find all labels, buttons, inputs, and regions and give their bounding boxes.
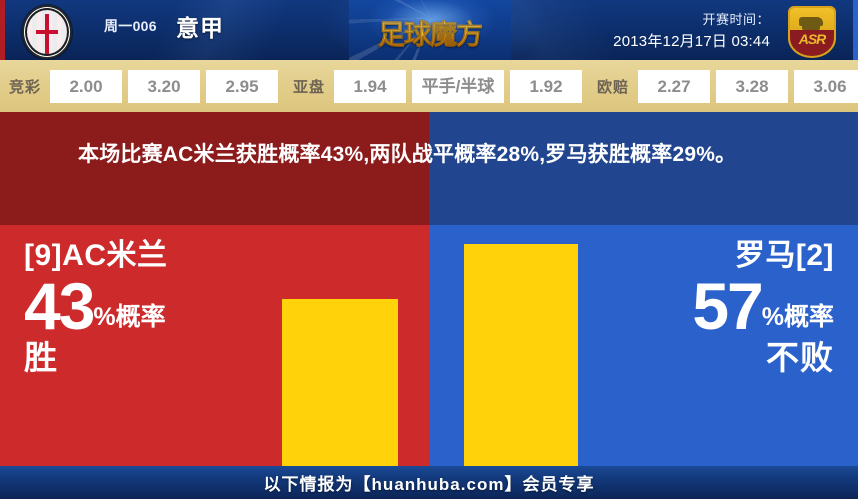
home-probability-bar	[282, 299, 398, 466]
home-team-name: [9]AC米兰	[24, 239, 258, 273]
home-team-block: [9]AC米兰 43 %概率 胜	[0, 239, 258, 377]
away-verdict: 不败	[600, 339, 834, 377]
odds-label-jingcai: 竞彩	[0, 76, 50, 97]
kickoff-label: 开赛时间：	[702, 9, 770, 28]
away-probability-value: 57	[692, 275, 761, 337]
she-wolf-icon	[799, 17, 823, 26]
roma-monogram: ASR	[790, 32, 834, 47]
footer-bar: 以下情报为【huanhuba.com】会员专享	[0, 466, 858, 499]
brand-logo: 足球魔方	[349, 0, 511, 60]
away-probability-suffix: %概率	[762, 305, 834, 337]
odds-label-european: 欧赔	[588, 76, 638, 97]
odds-european-home[interactable]: 2.27	[638, 70, 710, 103]
as-roma-crest-icon: ASR	[788, 6, 836, 58]
odds-label-asian: 亚盘	[284, 76, 334, 97]
away-probability-row: 57 %概率	[600, 275, 834, 337]
home-verdict: 胜	[24, 339, 258, 377]
summary-band: 本场比赛AC米兰获胜概率43%,两队战平概率28%,罗马获胜概率29%。	[0, 112, 858, 225]
match-probability-infographic: 周一006 意甲 足球魔方 开赛时间： 2013年12月17日 03:44 AS…	[0, 0, 858, 499]
odds-jingcai-draw[interactable]: 3.20	[128, 70, 200, 103]
league-name: 意甲	[176, 9, 224, 43]
odds-european-draw[interactable]: 3.28	[716, 70, 788, 103]
summary-text: 本场比赛AC米兰获胜概率43%,两队战平概率28%,罗马获胜概率29%。	[78, 138, 784, 171]
odds-asian-handicap[interactable]: 平手/半球	[412, 70, 504, 103]
away-probability-bar	[464, 244, 578, 466]
odds-bar: 竞彩 2.00 3.20 2.95 亚盘 1.94 平手/半球 1.92 欧赔 …	[0, 60, 858, 112]
brand-logo-text: 足球魔方	[349, 13, 511, 52]
odds-group-jingcai: 竞彩 2.00 3.20 2.95	[0, 60, 284, 112]
odds-group-asian: 亚盘 1.94 平手/半球 1.92	[284, 60, 588, 112]
odds-asian-away[interactable]: 1.92	[510, 70, 582, 103]
odds-jingcai-home[interactable]: 2.00	[50, 70, 122, 103]
away-team-block: 罗马[2] 57 %概率 不败	[600, 239, 858, 377]
kickoff-time: 2013年12月17日 03:44	[613, 30, 770, 51]
header-right-accent-stripe	[853, 0, 858, 60]
away-team-name: 罗马[2]	[600, 239, 834, 273]
footer-text: 以下情报为【huanhuba.com】会员专享	[264, 470, 595, 495]
header-left-accent-stripe	[0, 0, 5, 60]
home-probability-value: 43	[24, 275, 93, 337]
odds-european-away[interactable]: 3.06	[794, 70, 858, 103]
home-probability-suffix: %概率	[93, 305, 165, 337]
header-bar: 周一006 意甲 足球魔方 开赛时间： 2013年12月17日 03:44 AS…	[0, 0, 858, 60]
odds-jingcai-away[interactable]: 2.95	[206, 70, 278, 103]
odds-asian-home[interactable]: 1.94	[334, 70, 406, 103]
match-number: 周一006	[104, 16, 157, 36]
home-probability-row: 43 %概率	[24, 275, 258, 337]
crest-outer-ring	[25, 8, 69, 56]
probability-panels: [9]AC米兰 43 %概率 胜 罗马[2] 57 %概率 不败	[0, 225, 858, 466]
roma-crest-top	[790, 8, 834, 30]
odds-group-european: 欧赔 2.27 3.28 3.06	[588, 60, 858, 112]
ac-milan-crest-icon	[22, 5, 72, 59]
